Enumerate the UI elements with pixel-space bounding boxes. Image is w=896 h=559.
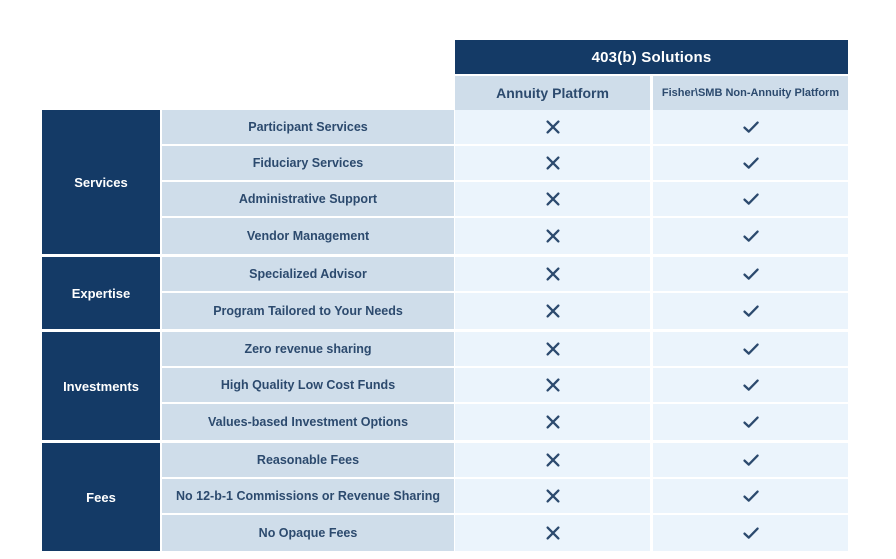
- check-icon: [741, 301, 761, 321]
- group-label-fees: Fees: [42, 443, 160, 551]
- cross-icon: [543, 226, 563, 246]
- cell-annuity-platform: [455, 146, 650, 182]
- group-rows: Zero revenue sharingHigh Quality Low Cos…: [160, 332, 848, 440]
- check-icon: [741, 375, 761, 395]
- check-icon: [741, 226, 761, 246]
- feature-label: High Quality Low Cost Funds: [162, 368, 454, 404]
- feature-label: Values-based Investment Options: [162, 404, 454, 440]
- cross-icon: [543, 117, 563, 137]
- feature-label: No Opaque Fees: [162, 515, 454, 551]
- group-rows: Reasonable FeesNo 12-b-1 Commissions or …: [160, 443, 848, 551]
- cell-non-annuity-platform: [653, 257, 848, 293]
- comparison-table: 403(b) Solutions Annuity Platform Fisher…: [0, 0, 896, 559]
- cell-non-annuity-platform: [653, 332, 848, 368]
- table-row: Fiduciary Services: [160, 146, 848, 182]
- cross-icon: [543, 301, 563, 321]
- cross-icon: [543, 339, 563, 359]
- cell-annuity-platform: [455, 182, 650, 218]
- feature-label: Participant Services: [162, 110, 454, 146]
- feature-group: ServicesParticipant ServicesFiduciary Se…: [42, 110, 848, 254]
- cell-annuity-platform: [455, 443, 650, 479]
- cell-annuity-platform: [455, 515, 650, 551]
- feature-group: ExpertiseSpecialized AdvisorProgram Tail…: [42, 257, 848, 329]
- column-header-non-annuity-platform: Fisher\SMB Non-Annuity Platform: [653, 76, 848, 110]
- cell-non-annuity-platform: [653, 368, 848, 404]
- check-icon: [741, 153, 761, 173]
- cell-annuity-platform: [455, 404, 650, 440]
- feature-group: InvestmentsZero revenue sharingHigh Qual…: [42, 332, 848, 440]
- cross-icon: [543, 412, 563, 432]
- table-row: Specialized Advisor: [160, 257, 848, 293]
- solutions-header: 403(b) Solutions: [455, 40, 848, 74]
- table-row: Administrative Support: [160, 182, 848, 218]
- feature-label: Specialized Advisor: [162, 257, 454, 293]
- cell-annuity-platform: [455, 110, 650, 146]
- table-row: Reasonable Fees: [160, 443, 848, 479]
- cell-non-annuity-platform: [653, 110, 848, 146]
- check-icon: [741, 486, 761, 506]
- table-row: High Quality Low Cost Funds: [160, 368, 848, 404]
- cell-non-annuity-platform: [653, 146, 848, 182]
- platform-header-row: Annuity Platform Fisher\SMB Non-Annuity …: [455, 76, 848, 110]
- table-row: No 12-b-1 Commissions or Revenue Sharing: [160, 479, 848, 515]
- feature-label: Fiduciary Services: [162, 146, 454, 182]
- cell-non-annuity-platform: [653, 443, 848, 479]
- table-row: Zero revenue sharing: [160, 332, 848, 368]
- column-header-annuity-platform: Annuity Platform: [455, 76, 650, 110]
- cell-non-annuity-platform: [653, 515, 848, 551]
- cross-icon: [543, 189, 563, 209]
- feature-label: Reasonable Fees: [162, 443, 454, 479]
- check-icon: [741, 117, 761, 137]
- feature-label: Administrative Support: [162, 182, 454, 218]
- table-body: ServicesParticipant ServicesFiduciary Se…: [42, 110, 848, 551]
- check-icon: [741, 189, 761, 209]
- group-label-expertise: Expertise: [42, 257, 160, 329]
- cross-icon: [543, 375, 563, 395]
- feature-group: FeesReasonable FeesNo 12-b-1 Commissions…: [42, 443, 848, 551]
- table-row: Program Tailored to Your Needs: [160, 293, 848, 329]
- cell-annuity-platform: [455, 479, 650, 515]
- check-icon: [741, 523, 761, 543]
- table-row: Vendor Management: [160, 218, 848, 254]
- cell-non-annuity-platform: [653, 182, 848, 218]
- group-rows: Participant ServicesFiduciary ServicesAd…: [160, 110, 848, 254]
- feature-label: Vendor Management: [162, 218, 454, 254]
- table-row: Values-based Investment Options: [160, 404, 848, 440]
- group-label-services: Services: [42, 110, 160, 254]
- cell-non-annuity-platform: [653, 218, 848, 254]
- feature-label: No 12-b-1 Commissions or Revenue Sharing: [162, 479, 454, 515]
- cell-annuity-platform: [455, 218, 650, 254]
- feature-label: Program Tailored to Your Needs: [162, 293, 454, 329]
- cell-non-annuity-platform: [653, 404, 848, 440]
- cell-annuity-platform: [455, 293, 650, 329]
- cell-annuity-platform: [455, 368, 650, 404]
- check-icon: [741, 412, 761, 432]
- cross-icon: [543, 450, 563, 470]
- table-row: Participant Services: [160, 110, 848, 146]
- cross-icon: [543, 486, 563, 506]
- cell-non-annuity-platform: [653, 293, 848, 329]
- cross-icon: [543, 264, 563, 284]
- cell-annuity-platform: [455, 257, 650, 293]
- cell-non-annuity-platform: [653, 479, 848, 515]
- cross-icon: [543, 153, 563, 173]
- check-icon: [741, 450, 761, 470]
- group-rows: Specialized AdvisorProgram Tailored to Y…: [160, 257, 848, 329]
- group-label-investments: Investments: [42, 332, 160, 440]
- check-icon: [741, 264, 761, 284]
- cell-annuity-platform: [455, 332, 650, 368]
- feature-label: Zero revenue sharing: [162, 332, 454, 368]
- check-icon: [741, 339, 761, 359]
- cross-icon: [543, 523, 563, 543]
- table-row: No Opaque Fees: [160, 515, 848, 551]
